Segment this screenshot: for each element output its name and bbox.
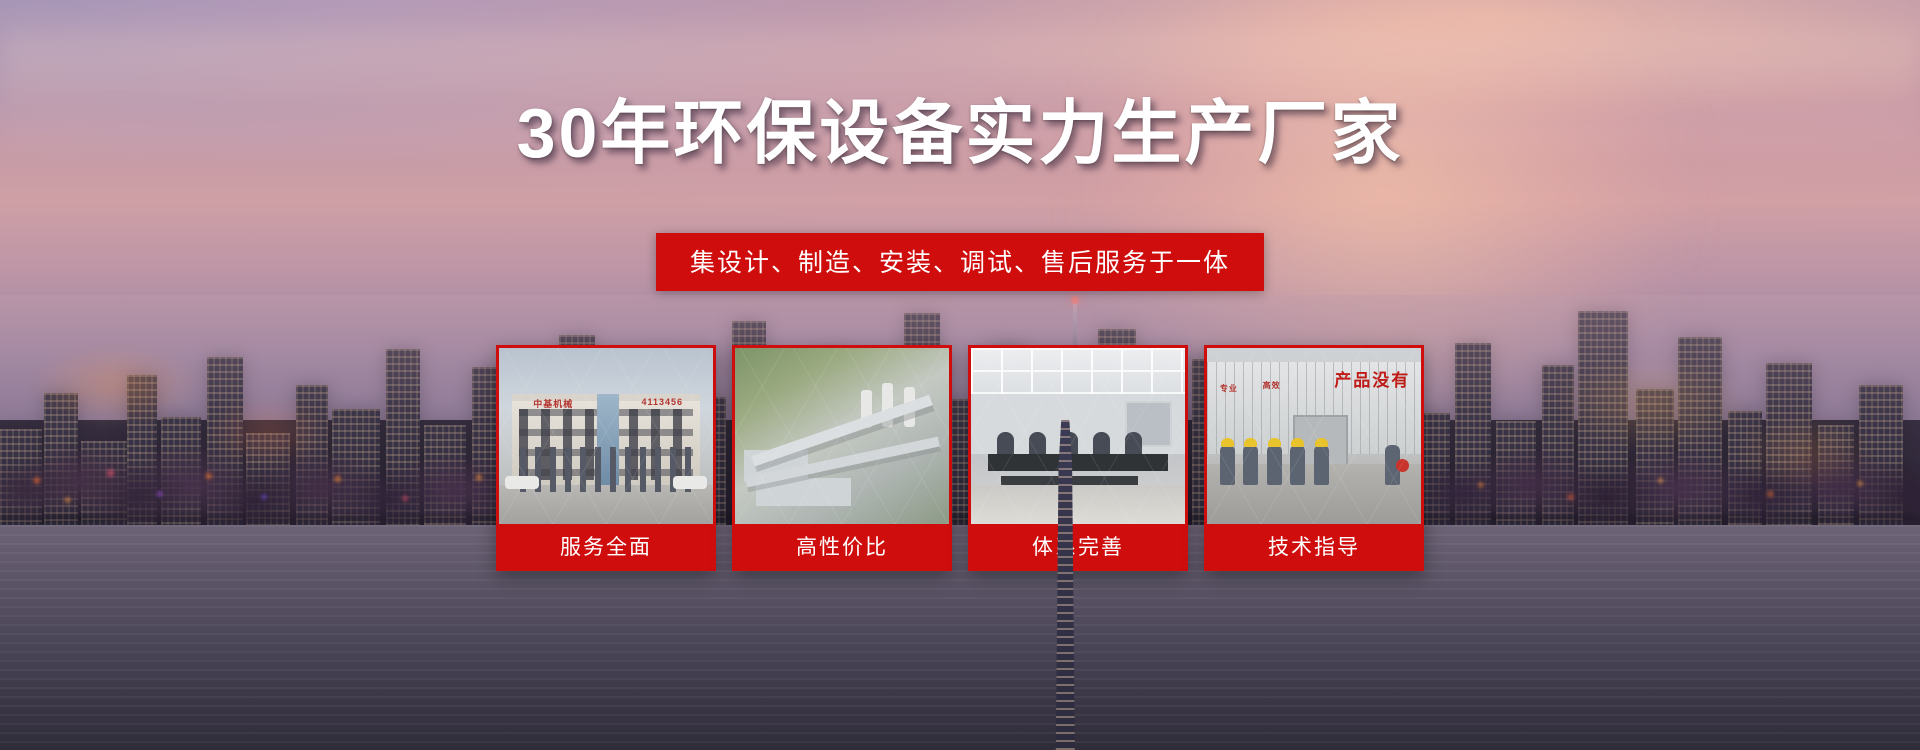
office-building-staff-photo: 中基机械 4113456 bbox=[499, 348, 713, 524]
card-caption: 高性价比 bbox=[735, 524, 949, 568]
feature-card[interactable]: 产品没有 专业 高效 技术指导 bbox=[1204, 345, 1424, 571]
card-caption: 体系完善 bbox=[971, 524, 1185, 568]
headline-text: 30年环保设备实力生产厂家 bbox=[517, 94, 1404, 172]
card-caption: 技术指导 bbox=[1207, 524, 1421, 568]
subtitle-banner: 集设计、制造、安装、调试、售后服务于一体 bbox=[656, 233, 1264, 291]
aerial-factory-plant-photo bbox=[735, 348, 949, 524]
watermark-overlay bbox=[735, 348, 949, 524]
page-title: 30年环保设备实力生产厂家 bbox=[0, 98, 1920, 168]
office-interior-meeting-photo bbox=[971, 348, 1185, 524]
watermark-overlay bbox=[971, 348, 1185, 524]
hero-banner: 30年环保设备实力生产厂家 集设计、制造、安装、调试、售后服务于一体 中基机械 … bbox=[0, 0, 1920, 750]
feature-card-list: 中基机械 4113456 服务全面 高性价比 bbox=[496, 345, 1424, 571]
feature-card[interactable]: 高性价比 bbox=[732, 345, 952, 571]
watermark-overlay bbox=[1207, 348, 1421, 524]
watermark-overlay bbox=[499, 348, 713, 524]
card-caption: 服务全面 bbox=[499, 524, 713, 568]
factory-workers-photo: 产品没有 专业 高效 bbox=[1207, 348, 1421, 524]
feature-card[interactable]: 体系完善 bbox=[968, 345, 1188, 571]
feature-card[interactable]: 中基机械 4113456 服务全面 bbox=[496, 345, 716, 571]
